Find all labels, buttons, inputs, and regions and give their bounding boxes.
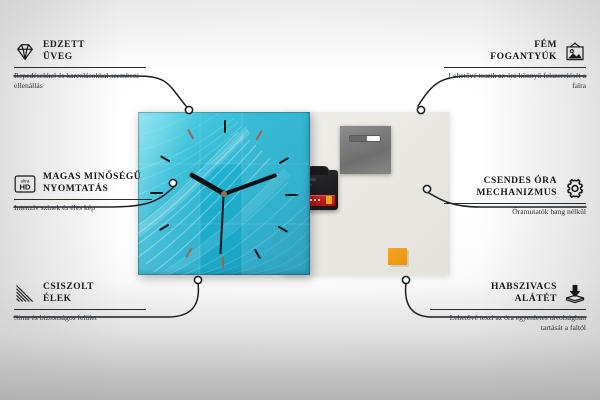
- diamond-icon: [14, 42, 36, 62]
- infographic-canvas: EDZETT ÜVEG Repedésekkel és karcolásokka…: [0, 0, 600, 400]
- clock-face: [138, 112, 310, 275]
- product-image: [138, 112, 450, 280]
- metal-hanger-part: [340, 126, 391, 174]
- foam-pad-icon: [564, 284, 586, 304]
- picture-hanger-icon: [564, 42, 586, 62]
- feature-description: Lehetővé teszik az óra könnyű felszerelé…: [444, 71, 586, 90]
- feature-divider: [14, 199, 152, 200]
- feature-description: Repedésekkel és karcolásokkal szembeni e…: [14, 71, 146, 90]
- feature-title-line1: MAGAS MINŐSÉGŰ: [43, 172, 141, 182]
- feature-description: Óramutatók hang nélkül: [444, 207, 586, 217]
- feature-description: Sima és biztonságos felület: [14, 313, 146, 323]
- feature-title-line2: ALÁTÉT: [515, 294, 557, 304]
- feature-foam-pad[interactable]: HABSZIVACS ALÁTÉT Lehetővé teszi az óra …: [430, 282, 586, 332]
- gear-icon: [564, 178, 586, 198]
- feature-description: Lehetővé teszi az óra egyenletes távolsá…: [430, 313, 586, 332]
- feature-description: Intenzív színek és éles kép: [14, 203, 152, 213]
- feature-title-line1: CSISZOLT: [43, 282, 94, 292]
- feature-title-line2: ÉLEK: [43, 294, 72, 304]
- feature-title-line1: FÉM: [534, 40, 557, 50]
- feature-divider: [430, 309, 586, 310]
- feature-silent-mechanism[interactable]: CSENDES ÓRA MECHANIZMUS Óramutatók hang …: [444, 176, 586, 217]
- feature-metal-handles[interactable]: FÉM FOGANTYÚK Lehetővé teszik az óra kön…: [444, 40, 586, 90]
- clock-center-cap: [221, 191, 227, 197]
- feature-title-line1: EDZETT: [43, 40, 85, 50]
- feature-divider: [444, 67, 586, 68]
- ultra-hd-icon: ultra HD: [14, 174, 36, 194]
- hanger-slot: [349, 135, 381, 142]
- feature-polished-edges[interactable]: CSISZOLT ÉLEK Sima és biztonságos felüle…: [14, 282, 146, 323]
- feature-title-line2: MECHANIZMUS: [477, 188, 557, 198]
- feature-divider: [444, 203, 586, 204]
- feature-title-line1: HABSZIVACS: [491, 282, 557, 292]
- feature-title-line2: NYOMTATÁS: [43, 184, 108, 194]
- foam-pad-part: [388, 248, 407, 265]
- feature-title-line2: FOGANTYÚK: [490, 52, 557, 62]
- svg-text:HD: HD: [19, 182, 31, 191]
- feature-high-quality-print[interactable]: ultra HD MAGAS MINŐSÉGŰ NYOMTATÁS Intenz…: [14, 172, 152, 213]
- feature-title-line2: ÜVEG: [43, 52, 73, 62]
- polished-edge-icon: [14, 284, 36, 304]
- feature-divider: [14, 67, 146, 68]
- mechanism-loop: [307, 166, 329, 175]
- feature-title-line1: CSENDES ÓRA: [484, 176, 557, 186]
- feature-tempered-glass[interactable]: EDZETT ÜVEG Repedésekkel és karcolásokka…: [14, 40, 146, 90]
- feature-divider: [14, 309, 146, 310]
